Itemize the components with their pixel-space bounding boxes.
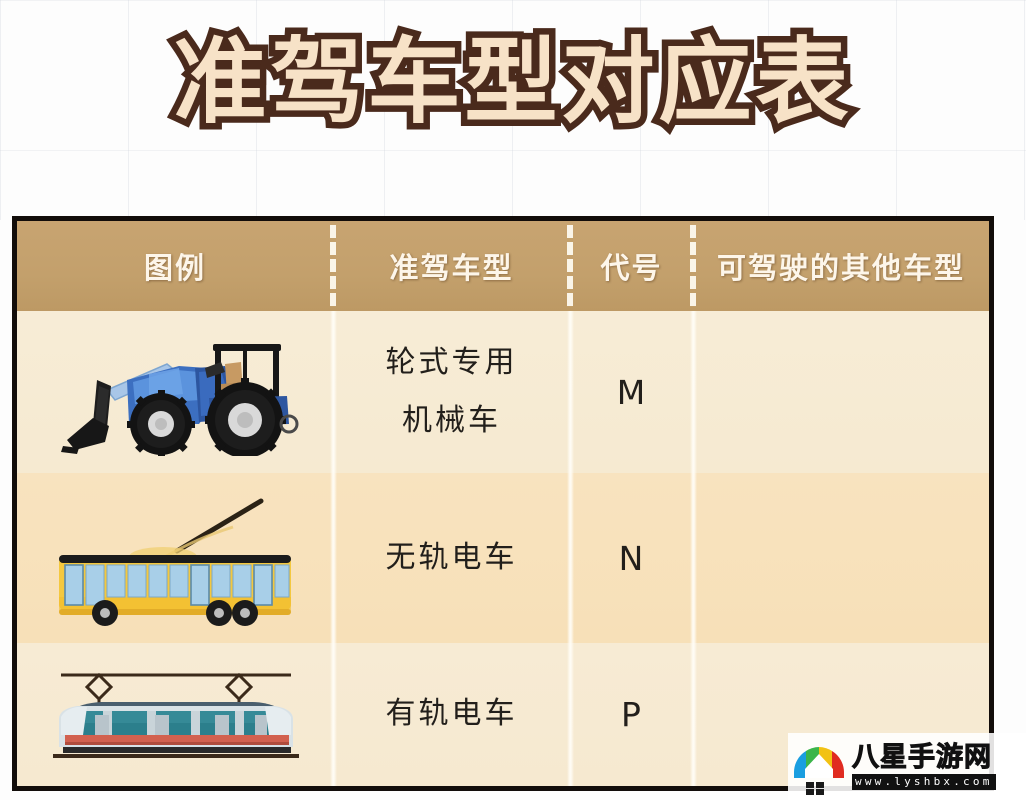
table-inner: 图例 准驾车型 代号 可驾驶的其他车型 xyxy=(17,221,989,786)
page-title: 准驾车型对应表 xyxy=(174,34,853,132)
cell-illustration xyxy=(17,311,333,473)
cell-vehicle-type: 有轨电车 xyxy=(333,643,570,786)
vehicle-code-text: P xyxy=(621,695,642,734)
site-watermark: 八星手游网 www.lyshbx.com xyxy=(788,733,1026,800)
site-watermark-text: 八星手游网 www.lyshbx.com xyxy=(852,743,996,791)
cell-illustration xyxy=(17,643,333,786)
table-row: 轮式专用 机械车 M xyxy=(17,311,989,473)
table-body: 轮式专用 机械车 M xyxy=(17,311,989,786)
cell-code: N xyxy=(570,473,693,643)
vehicle-type-text: 轮式专用 机械车 xyxy=(386,334,518,451)
vehicle-type-line-1: 轮式专用 xyxy=(386,334,518,393)
cell-other-vehicles xyxy=(693,473,989,643)
page-title-container: 准驾车型对应表 xyxy=(0,34,1026,132)
vehicle-type-line-2: 机械车 xyxy=(386,392,518,451)
vehicle-type-text: 有轨电车 xyxy=(386,685,518,744)
vehicle-type-line-1: 有轨电车 xyxy=(386,685,518,744)
site-name: 八星手游网 xyxy=(852,743,996,773)
cell-vehicle-type: 轮式专用 机械车 xyxy=(333,311,570,473)
vehicle-code-text: M xyxy=(617,373,646,412)
vehicle-type-table: 图例 准驾车型 代号 可驾驶的其他车型 xyxy=(12,216,994,791)
cell-other-vehicles xyxy=(693,311,989,473)
column-header-illustration: 图例 xyxy=(17,221,333,311)
vehicle-code-text: N xyxy=(619,539,645,578)
wheeled-special-machinery-icon xyxy=(49,328,301,456)
column-header-code: 代号 xyxy=(570,221,693,311)
cell-illustration xyxy=(17,473,333,643)
site-logo-icon xyxy=(790,738,848,796)
column-header-type: 准驾车型 xyxy=(333,221,570,311)
cell-code: M xyxy=(570,311,693,473)
trolleybus-icon xyxy=(45,485,305,631)
cell-code: P xyxy=(570,643,693,786)
poster-canvas: 准驾车型对应表 图例 准驾车型 代号 可驾驶的其他车型 xyxy=(0,0,1026,800)
site-url: www.lyshbx.com xyxy=(852,774,996,790)
vehicle-type-text: 无轨电车 xyxy=(386,529,518,588)
tram-icon xyxy=(43,659,307,771)
table-row: 无轨电车 N xyxy=(17,473,989,643)
vehicle-type-line-1: 无轨电车 xyxy=(386,529,518,588)
column-header-other: 可驾驶的其他车型 xyxy=(693,221,989,311)
table-header-row: 图例 准驾车型 代号 可驾驶的其他车型 xyxy=(17,221,989,311)
cell-vehicle-type: 无轨电车 xyxy=(333,473,570,643)
